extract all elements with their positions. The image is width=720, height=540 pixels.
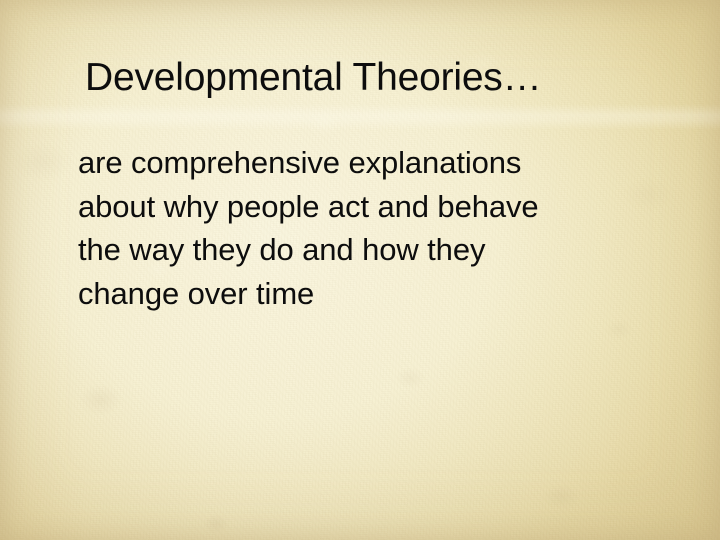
body-line: change over time (78, 272, 658, 316)
presentation-slide: Developmental Theories… are comprehensiv… (0, 0, 720, 540)
slide-content: Developmental Theories… are comprehensiv… (0, 0, 720, 540)
body-line: the way they do and how they (78, 228, 658, 272)
body-line: about why people act and behave (78, 185, 658, 229)
slide-body-text: are comprehensive explanations about why… (78, 141, 658, 315)
slide-title: Developmental Theories… (85, 55, 685, 101)
body-line: are comprehensive explanations (78, 141, 658, 185)
